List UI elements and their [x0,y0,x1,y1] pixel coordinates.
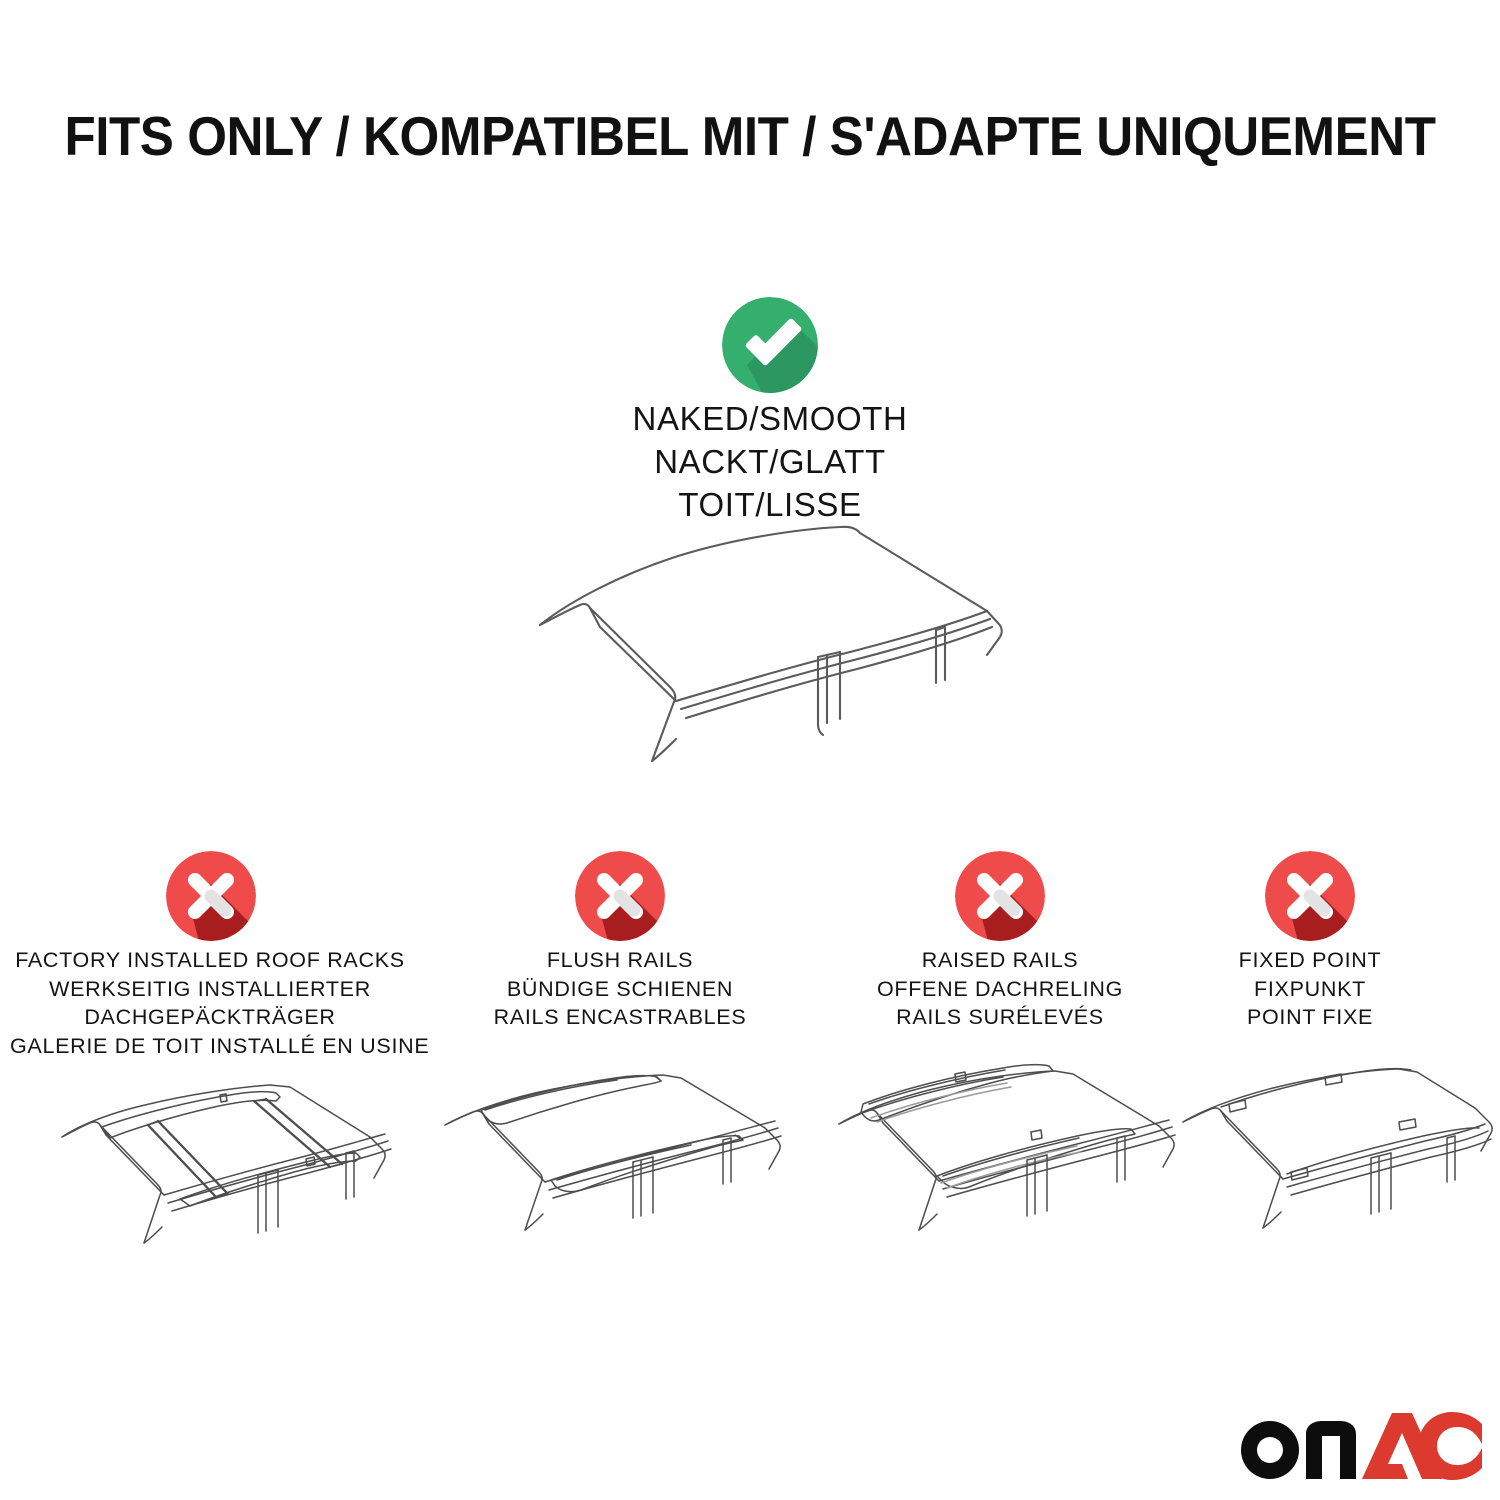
logo-letter-c [1418,1412,1482,1480]
check-circle-icon [722,297,818,393]
x-circle-icon [166,851,256,941]
compatible-caption-line-2: NACKT/GLATT [520,441,1020,484]
caption-line: RAISED RAILS [800,946,1200,975]
caption-line: FACTORY INSTALLED ROOF RACKS [10,946,410,975]
caption-line: BÜNDIGE SCHIENEN [420,975,820,1004]
x-circle-icon [1265,851,1355,941]
caption-line: WERKSEITIG INSTALLIERTER [10,975,410,1004]
x-circle-icon [575,851,665,941]
incompatible-caption-factory-installed-roof-racks: FACTORY INSTALLED ROOF RACKS WERKSEITIG … [10,946,410,1060]
roof-with-raised-rails-illustration [825,1060,1225,1285]
caption-line: RAILS SURÉLEVÉS [800,1003,1200,1032]
compatible-caption-line-1: NAKED/SMOOTH [520,398,1020,441]
omac-logo [1236,1412,1482,1480]
caption-line: FIXED POINT [1160,946,1460,975]
caption-line: FLUSH RAILS [420,946,820,975]
logo-letter-m [1306,1421,1356,1479]
roof-with-fixed-points-illustration [1175,1060,1500,1285]
caption-line: GALERIE DE TOIT INSTALLÉ EN USINE [10,1032,410,1061]
caption-line: OFFENE DACHRELING [800,975,1200,1004]
caption-line: RAILS ENCASTRABLES [420,1003,820,1032]
incompatible-caption-raised-rails: RAISED RAILS OFFENE DACHRELING RAILS SUR… [800,946,1200,1032]
caption-line: POINT FIXE [1160,1003,1460,1032]
bare-roof-illustration [500,515,1040,795]
compatible-caption: NAKED/SMOOTH NACKT/GLATT TOIT/LISSE [520,398,1020,527]
roof-with-flush-rails-illustration [435,1070,835,1285]
x-circle-icon [955,851,1045,941]
logo-letter-o [1241,1421,1299,1479]
roof-with-factory-racks-illustration [40,1075,430,1285]
incompatible-caption-flush-rails: FLUSH RAILS BÜNDIGE SCHIENEN RAILS ENCAS… [420,946,820,1032]
caption-line: DACHGEPÄCKTRÄGER [10,1003,410,1032]
incompatible-caption-fixed-point: FIXED POINT FIXPUNKT POINT FIXE [1160,946,1460,1032]
page-title: FITS ONLY / KOMPATIBEL MIT / S'ADAPTE UN… [53,104,1448,168]
caption-line: FIXPUNKT [1160,975,1460,1004]
